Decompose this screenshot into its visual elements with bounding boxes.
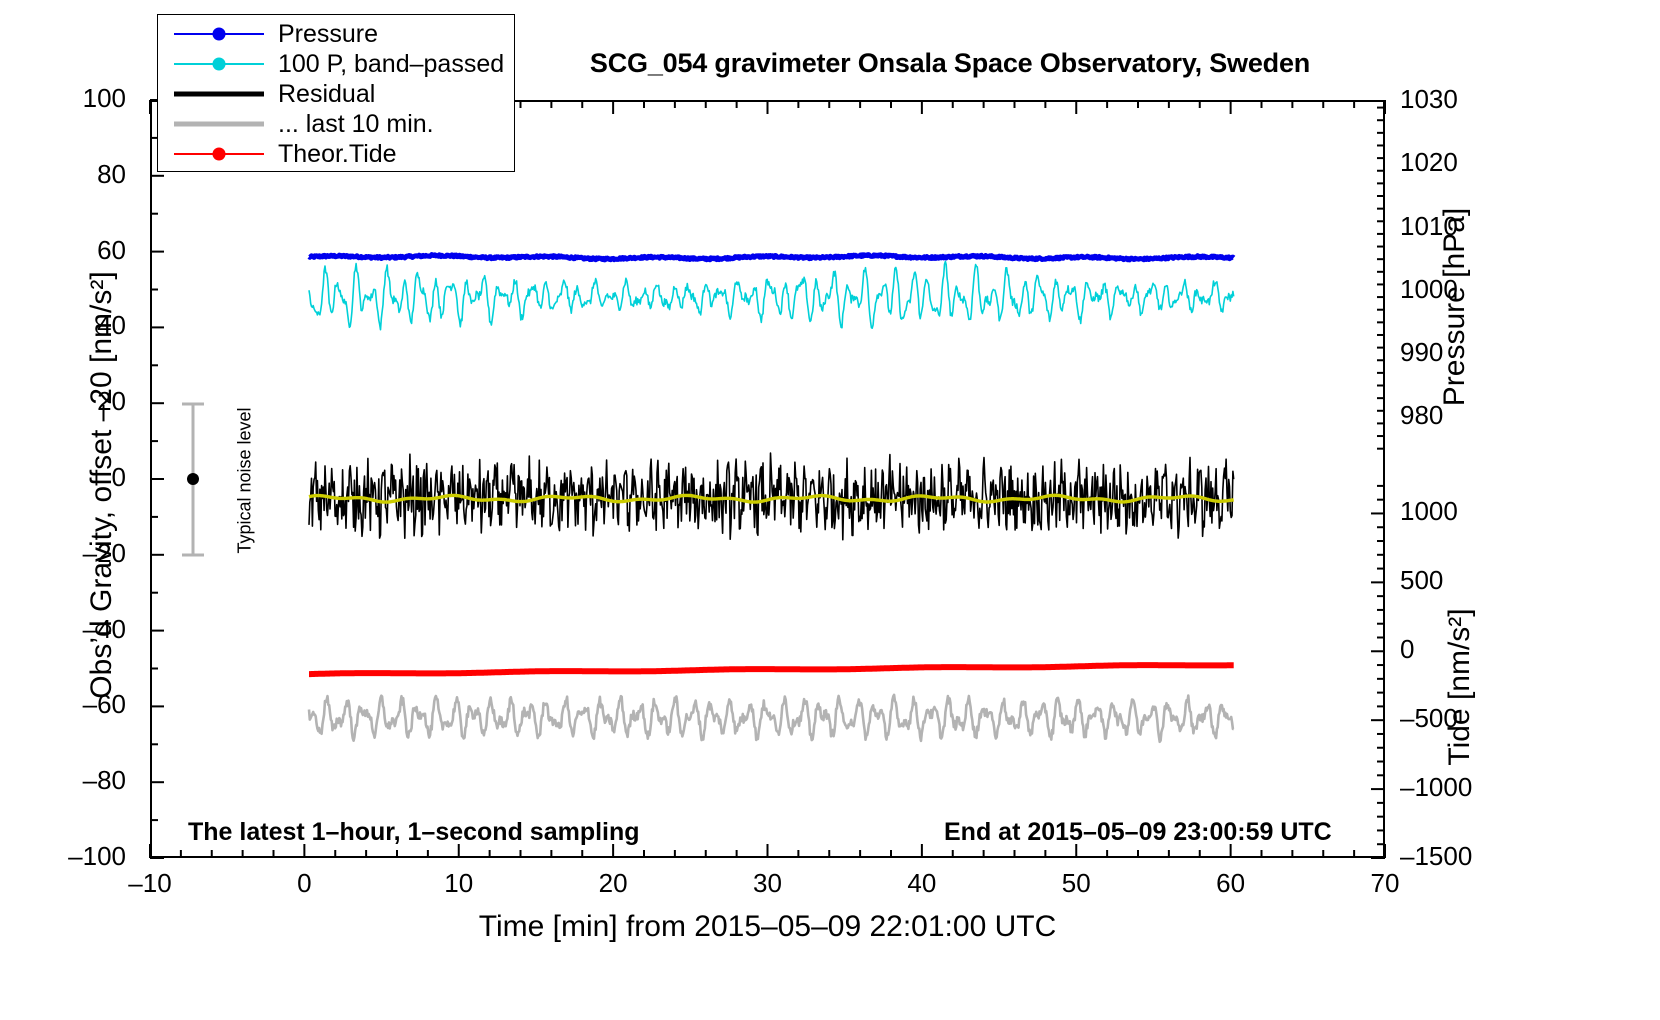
axis-tick-label: 0: [249, 868, 359, 899]
legend-color-swatch: [174, 49, 264, 79]
legend-marker-dot: [213, 148, 226, 161]
legend-color-swatch: [174, 79, 264, 109]
data-series: [309, 255, 1234, 742]
legend-item-label: Theor.Tide: [278, 140, 397, 169]
y-axis-left-title: Obs’d Gravity, offset –20 [nm/s²]: [85, 105, 119, 865]
axis-tick-label: 10: [404, 868, 514, 899]
legend-item-label: Residual: [278, 80, 375, 109]
legend-item[interactable]: 100 P, band–passed: [158, 49, 514, 79]
axis-tick-label: 20: [558, 868, 668, 899]
noise-level-label: Typical noise level: [235, 381, 256, 581]
chart-legend: Pressure100 P, band–passedResidual... la…: [157, 14, 515, 172]
axis-tick-label: 60: [1176, 868, 1286, 899]
y-axis-pressure-title: Pressure [hPa]: [1438, 97, 1472, 517]
note-latest-sampling: The latest 1–hour, 1–second sampling: [188, 818, 640, 847]
legend-marker-dot: [213, 58, 226, 71]
legend-item-label: ... last 10 min.: [278, 110, 434, 139]
noise-error-bar: [182, 404, 204, 555]
legend-item-label: Pressure: [278, 20, 378, 49]
legend-color-swatch: [174, 109, 264, 139]
legend-item[interactable]: Theor.Tide: [158, 139, 514, 169]
legend-item[interactable]: Pressure: [158, 19, 514, 49]
legend-item[interactable]: ... last 10 min.: [158, 109, 514, 139]
legend-marker-dot: [213, 28, 226, 41]
axis-tick-label: –1500: [1400, 841, 1510, 872]
axis-tick-label: 30: [713, 868, 823, 899]
legend-item-label: 100 P, band–passed: [278, 50, 504, 79]
legend-color-swatch: [174, 139, 264, 169]
x-axis-title: Time [min] from 2015–05–09 22:01:00 UTC: [150, 910, 1385, 944]
note-end-time: End at 2015–05–09 23:00:59 UTC: [944, 818, 1332, 847]
axis-tick-label: 70: [1330, 868, 1440, 899]
axis-tick-label: 40: [867, 868, 977, 899]
legend-item[interactable]: Residual: [158, 79, 514, 109]
y-axis-tide-title: Tide [nm/s²]: [1443, 537, 1477, 837]
axis-tick-label: –10: [95, 868, 205, 899]
axis-tick-label: 50: [1021, 868, 1131, 899]
legend-color-swatch: [174, 19, 264, 49]
